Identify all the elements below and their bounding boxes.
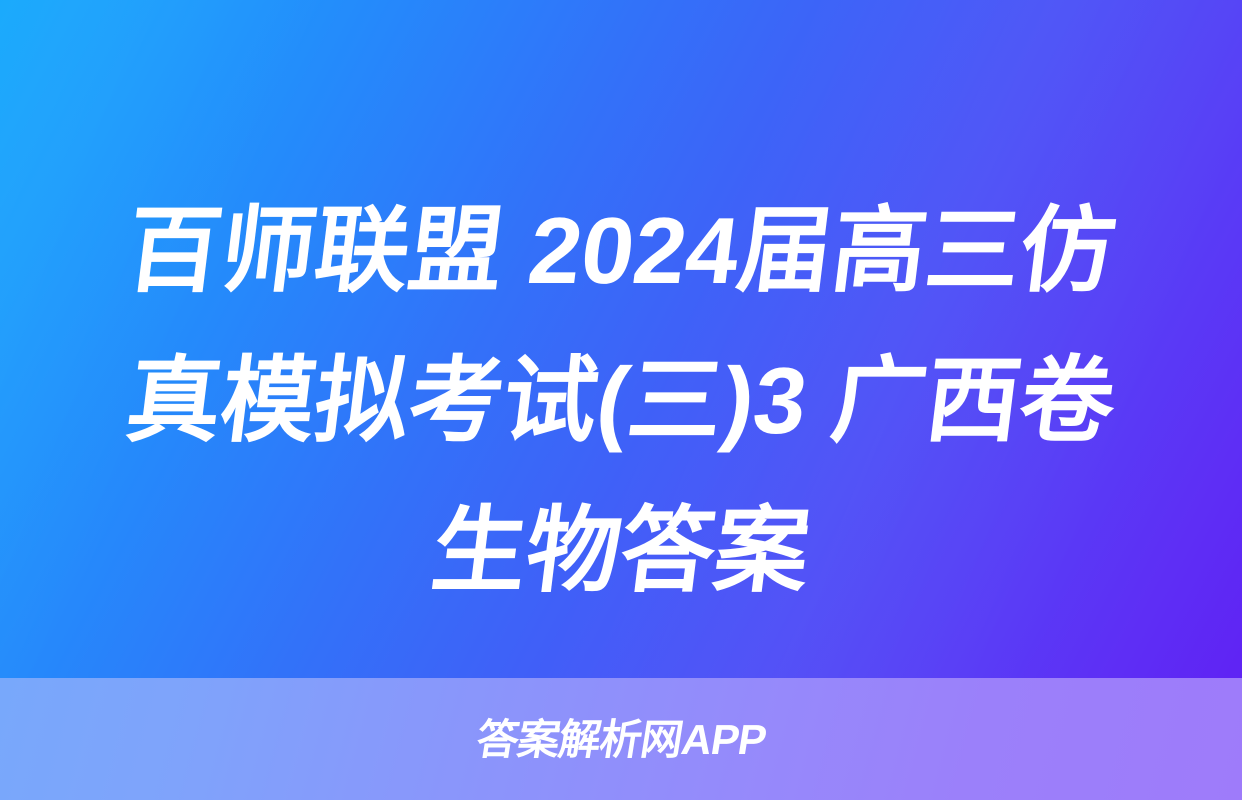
app-promo-label: 答案解析网APP (473, 717, 769, 763)
app-promo-band: 答案解析网APP (0, 678, 1242, 800)
poster-page: 百师联盟 2024届高三仿 真模拟考试(三)3 广西卷 生物答案 答案解析网AP… (0, 0, 1242, 800)
page-title: 百师联盟 2024届高三仿 真模拟考试(三)3 广西卷 生物答案 (0, 176, 1242, 626)
title-line-2: 真模拟考试(三)3 广西卷 (27, 326, 1215, 476)
title-line-1: 百师联盟 2024届高三仿 (27, 176, 1215, 326)
title-line-3: 生物答案 (27, 476, 1215, 626)
hero-gradient-banner: 百师联盟 2024届高三仿 真模拟考试(三)3 广西卷 生物答案 (0, 0, 1242, 678)
